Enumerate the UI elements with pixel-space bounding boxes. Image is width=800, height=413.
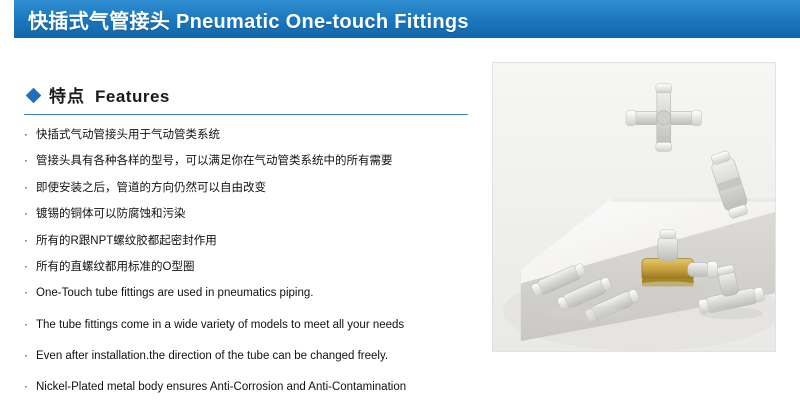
list-item: · 管接头具有各种各样的型号，可以满足你在气动管类系统中的所有需要 (24, 154, 474, 168)
features-title-en: Features (95, 87, 170, 107)
list-item-label: 快插式气动管接头用于气动管类系统 (36, 128, 474, 142)
features-column: 特点 Features · 快插式气动管接头用于气动管类系统 · 管接头具有各种… (24, 82, 474, 413)
bullet-dot-icon: · (24, 181, 36, 195)
heading-divider (24, 114, 468, 115)
list-item-label: The tube fittings come in a wide variety… (36, 318, 474, 332)
list-item: · Nickel-Plated metal body ensures Anti-… (24, 380, 474, 394)
diamond-bullet-icon (26, 88, 42, 104)
list-item-label: Nickel-Plated metal body ensures Anti-Co… (36, 380, 474, 394)
header-left-accent (0, 0, 14, 38)
list-item: · 所有的R跟NPT螺纹胶都起密封作用 (24, 234, 474, 248)
list-item: · The tube fittings come in a wide varie… (24, 318, 474, 332)
list-item: · 镀锡的铜体可以防腐蚀和污染 (24, 207, 474, 221)
catalog-page: 快插式气管接头 Pneumatic One-touch Fittings 特点 … (0, 0, 800, 413)
product-photo-image (493, 63, 775, 351)
bullet-dot-icon: · (24, 154, 36, 168)
product-photo (492, 62, 776, 352)
list-item: · One-Touch tube fittings are used in pn… (24, 286, 474, 300)
features-heading: 特点 Features (24, 82, 474, 107)
list-item-label: 管接头具有各种各样的型号，可以满足你在气动管类系统中的所有需要 (36, 154, 474, 168)
list-item: · 即使安装之后，管道的方向仍然可以自由改变 (24, 181, 474, 195)
list-item-label: One-Touch tube fittings are used in pneu… (36, 286, 474, 300)
bullet-dot-icon: · (24, 128, 36, 142)
bullet-dot-icon: · (24, 234, 36, 248)
bullet-dot-icon: · (24, 207, 36, 221)
list-item-label: 镀锡的铜体可以防腐蚀和污染 (36, 207, 474, 221)
list-item: · 所有的直螺纹都用标准的O型圈 (24, 260, 474, 274)
bullet-dot-icon: · (24, 349, 36, 363)
bullet-dot-icon: · (24, 260, 36, 274)
list-item: · Even after installation.the direction … (24, 349, 474, 363)
list-item-label: 所有的直螺纹都用标准的O型圈 (36, 260, 474, 274)
bullet-dot-icon: · (24, 286, 36, 300)
features-list-cn: · 快插式气动管接头用于气动管类系统 · 管接头具有各种各样的型号，可以满足你在… (24, 128, 474, 274)
features-list-en: · One-Touch tube fittings are used in pn… (24, 286, 474, 413)
bullet-dot-icon: · (24, 318, 36, 332)
page-header: 快插式气管接头 Pneumatic One-touch Fittings (0, 0, 800, 38)
list-item-label: 即使安装之后，管道的方向仍然可以自由改变 (36, 181, 474, 195)
list-item-label: 所有的R跟NPT螺纹胶都起密封作用 (36, 234, 474, 248)
features-title-cn: 特点 (49, 82, 85, 107)
page-title: 快插式气管接头 Pneumatic One-touch Fittings (28, 5, 469, 34)
list-item: · 快插式气动管接头用于气动管类系统 (24, 128, 474, 142)
bullet-dot-icon: · (24, 380, 36, 394)
list-item-label: Even after installation.the direction of… (36, 349, 474, 363)
